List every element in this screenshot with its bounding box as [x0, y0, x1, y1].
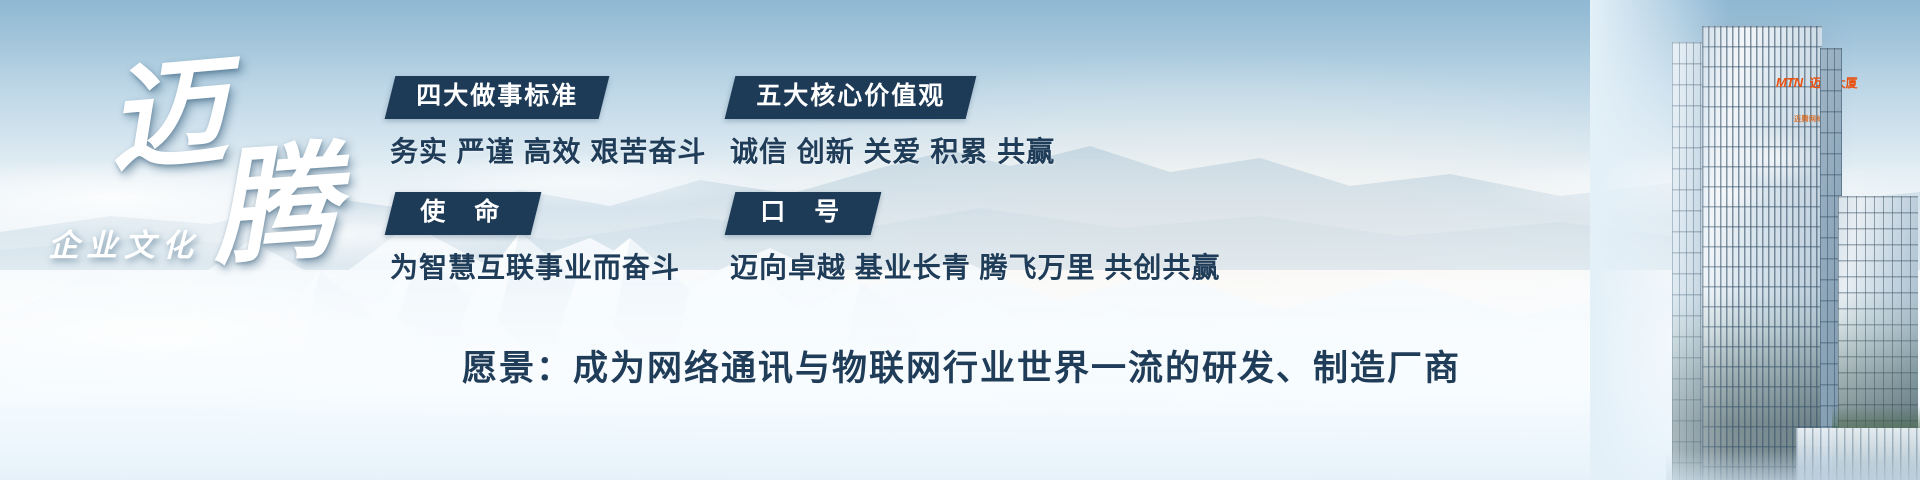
- city-left-fade: [1590, 0, 1730, 480]
- corporate-culture-banner: 迈 腾 企业文化 四大做事标准 务实 严谨 高效 艰苦奋斗 使 命 为智慧互联事…: [0, 0, 1920, 480]
- right-column: 五大核心价值观 诚信 创新 关爱 积累 共赢 口 号 迈向卓越 基业长青 腾飞万…: [730, 76, 1170, 282]
- block-slogan: 口 号 迈向卓越 基业长青 腾飞万里 共创共赢: [730, 192, 1170, 282]
- text-core-values: 诚信 创新 关爱 积累 共赢: [730, 138, 1170, 166]
- text-work-standards: 务实 严谨 高效 艰苦奋斗: [390, 138, 720, 166]
- building-sign: MTN迈腾大厦: [1776, 76, 1858, 89]
- headquarters-building: MTN迈腾大厦 迈腾网络科技: [1440, 0, 1920, 480]
- text-mission: 为智慧互联事业而奋斗: [390, 254, 720, 282]
- left-column: 四大做事标准 务实 严谨 高效 艰苦奋斗 使 命 为智慧互联事业而奋斗: [390, 76, 720, 282]
- vision-statement: 愿景：成为网络通讯与物联网行业世界一流的研发、制造厂商: [462, 340, 1461, 391]
- tag-mission: 使 命: [385, 192, 542, 235]
- block-work-standards: 四大做事标准 务实 严谨 高效 艰苦奋斗: [390, 76, 720, 166]
- tag-core-values-label: 五大核心价值观: [756, 84, 945, 109]
- tag-work-standards-label: 四大做事标准: [416, 84, 578, 109]
- block-core-values: 五大核心价值观 诚信 创新 关爱 积累 共赢: [730, 76, 1170, 166]
- block-mission: 使 命 为智慧互联事业而奋斗: [390, 192, 720, 282]
- text-slogan: 迈向卓越 基业长青 腾飞万里 共创共赢: [730, 254, 1170, 282]
- tag-slogan: 口 号: [725, 192, 882, 235]
- tag-slogan-label: 口 号: [756, 200, 850, 225]
- tag-core-values: 五大核心价值观: [725, 76, 977, 119]
- building-sign-latin: MTN: [1776, 75, 1803, 90]
- tag-mission-label: 使 命: [416, 200, 510, 225]
- tag-work-standards: 四大做事标准: [385, 76, 610, 119]
